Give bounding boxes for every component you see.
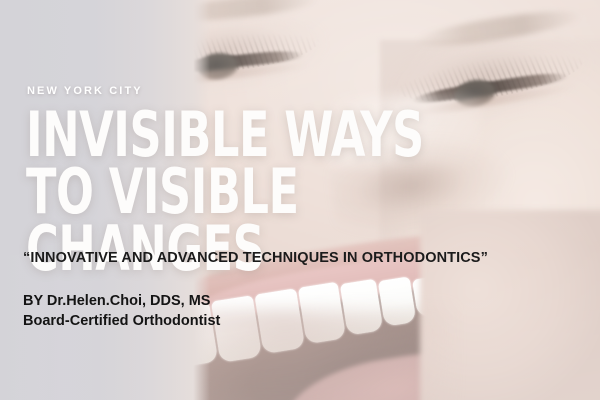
text-overlay: NEW YORK CITY INVISIBLE WAYS TO VISIBLE …: [0, 0, 600, 400]
subtitle-quote: “INNOVATIVE AND ADVANCED TECHNIQUES IN O…: [23, 250, 488, 266]
poster-canvas: NEW YORK CITY INVISIBLE WAYS TO VISIBLE …: [0, 0, 600, 400]
headline-line-2: CHANGES: [26, 220, 442, 277]
eyebrow-location: NEW YORK CITY: [27, 85, 143, 97]
headline-line-1: INVISIBLE WAYS TO VISIBLE: [26, 98, 424, 228]
byline-name: BY Dr.Helen.Choi, DDS, MS: [23, 291, 220, 311]
byline: BY Dr.Helen.Choi, DDS, MS Board-Certifie…: [23, 291, 220, 331]
byline-credential: Board-Certified Orthodontist: [23, 311, 220, 331]
